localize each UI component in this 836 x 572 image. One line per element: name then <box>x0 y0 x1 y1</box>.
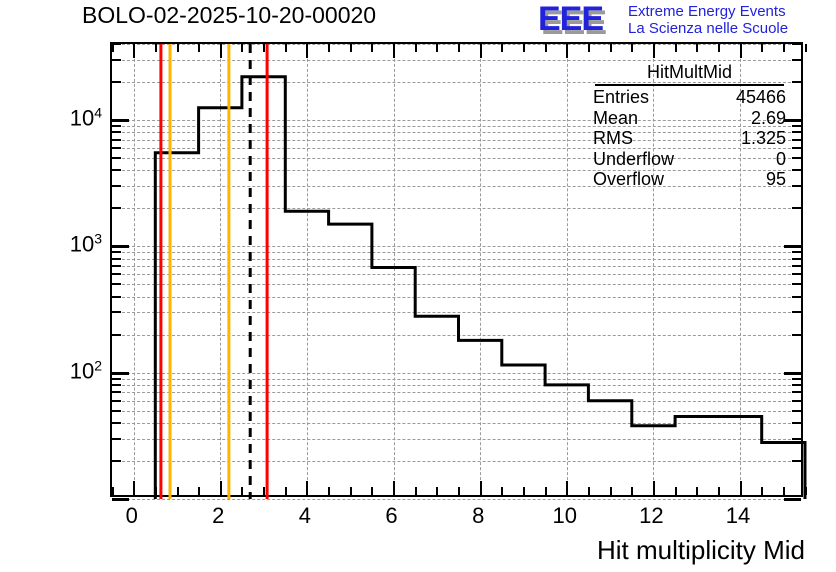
stats-row-value: 45466 <box>736 87 786 108</box>
stats-row: RMS1.325 <box>587 128 792 149</box>
stats-rows: Entries45466Mean2.69RMS1.325Underflow0Ov… <box>587 87 792 190</box>
page-title: BOLO-02-2025-10-20-00020 <box>82 2 376 29</box>
x-tick-label: 14 <box>726 503 750 529</box>
stats-row: Overflow95 <box>587 169 792 190</box>
stats-row: Underflow0 <box>587 149 792 170</box>
stats-row-value: 1.325 <box>741 128 786 149</box>
eee-logo-line2: La Scienza nelle Scuole <box>628 20 788 37</box>
y-tick-label: 102 <box>36 357 102 384</box>
x-axis-title: Hit multiplicity Mid <box>597 535 805 566</box>
x-tick-label: 6 <box>385 503 397 529</box>
root-canvas: BOLO-02-2025-10-20-00020 EEE EEE Extreme… <box>0 0 836 572</box>
eee-logo-letters: EEE <box>538 1 603 37</box>
eee-logo: EEE EEE Extreme Energy Events La Scienza… <box>538 1 830 41</box>
y-tick-label: 104 <box>36 104 102 131</box>
y-gridline <box>112 499 801 500</box>
x-tick-label: 2 <box>212 503 224 529</box>
stats-row-key: Underflow <box>593 149 674 170</box>
stats-row-value: 2.69 <box>751 108 786 129</box>
stats-box: HitMultMid Entries45466Mean2.69RMS1.325U… <box>587 62 792 190</box>
x-tick-label: 8 <box>472 503 484 529</box>
stats-row-key: Overflow <box>593 169 664 190</box>
stats-row-key: Entries <box>593 87 649 108</box>
stats-row: Entries45466 <box>587 87 792 108</box>
stats-row-key: RMS <box>593 128 633 149</box>
stats-row-key: Mean <box>593 108 638 129</box>
eee-logo-line1: Extreme Energy Events <box>628 3 788 20</box>
stats-row: Mean2.69 <box>587 108 792 129</box>
x-tick-label: 12 <box>639 503 663 529</box>
eee-logo-text: Extreme Energy Events La Scienza nelle S… <box>628 3 788 37</box>
stats-row-value: 95 <box>766 169 786 190</box>
x-tick-label: 0 <box>126 503 138 529</box>
x-tick-label: 4 <box>299 503 311 529</box>
y-tick-label: 103 <box>36 231 102 258</box>
stats-row-value: 0 <box>776 149 786 170</box>
x-tick-label: 10 <box>553 503 577 529</box>
stats-box-title: HitMultMid <box>595 62 784 86</box>
